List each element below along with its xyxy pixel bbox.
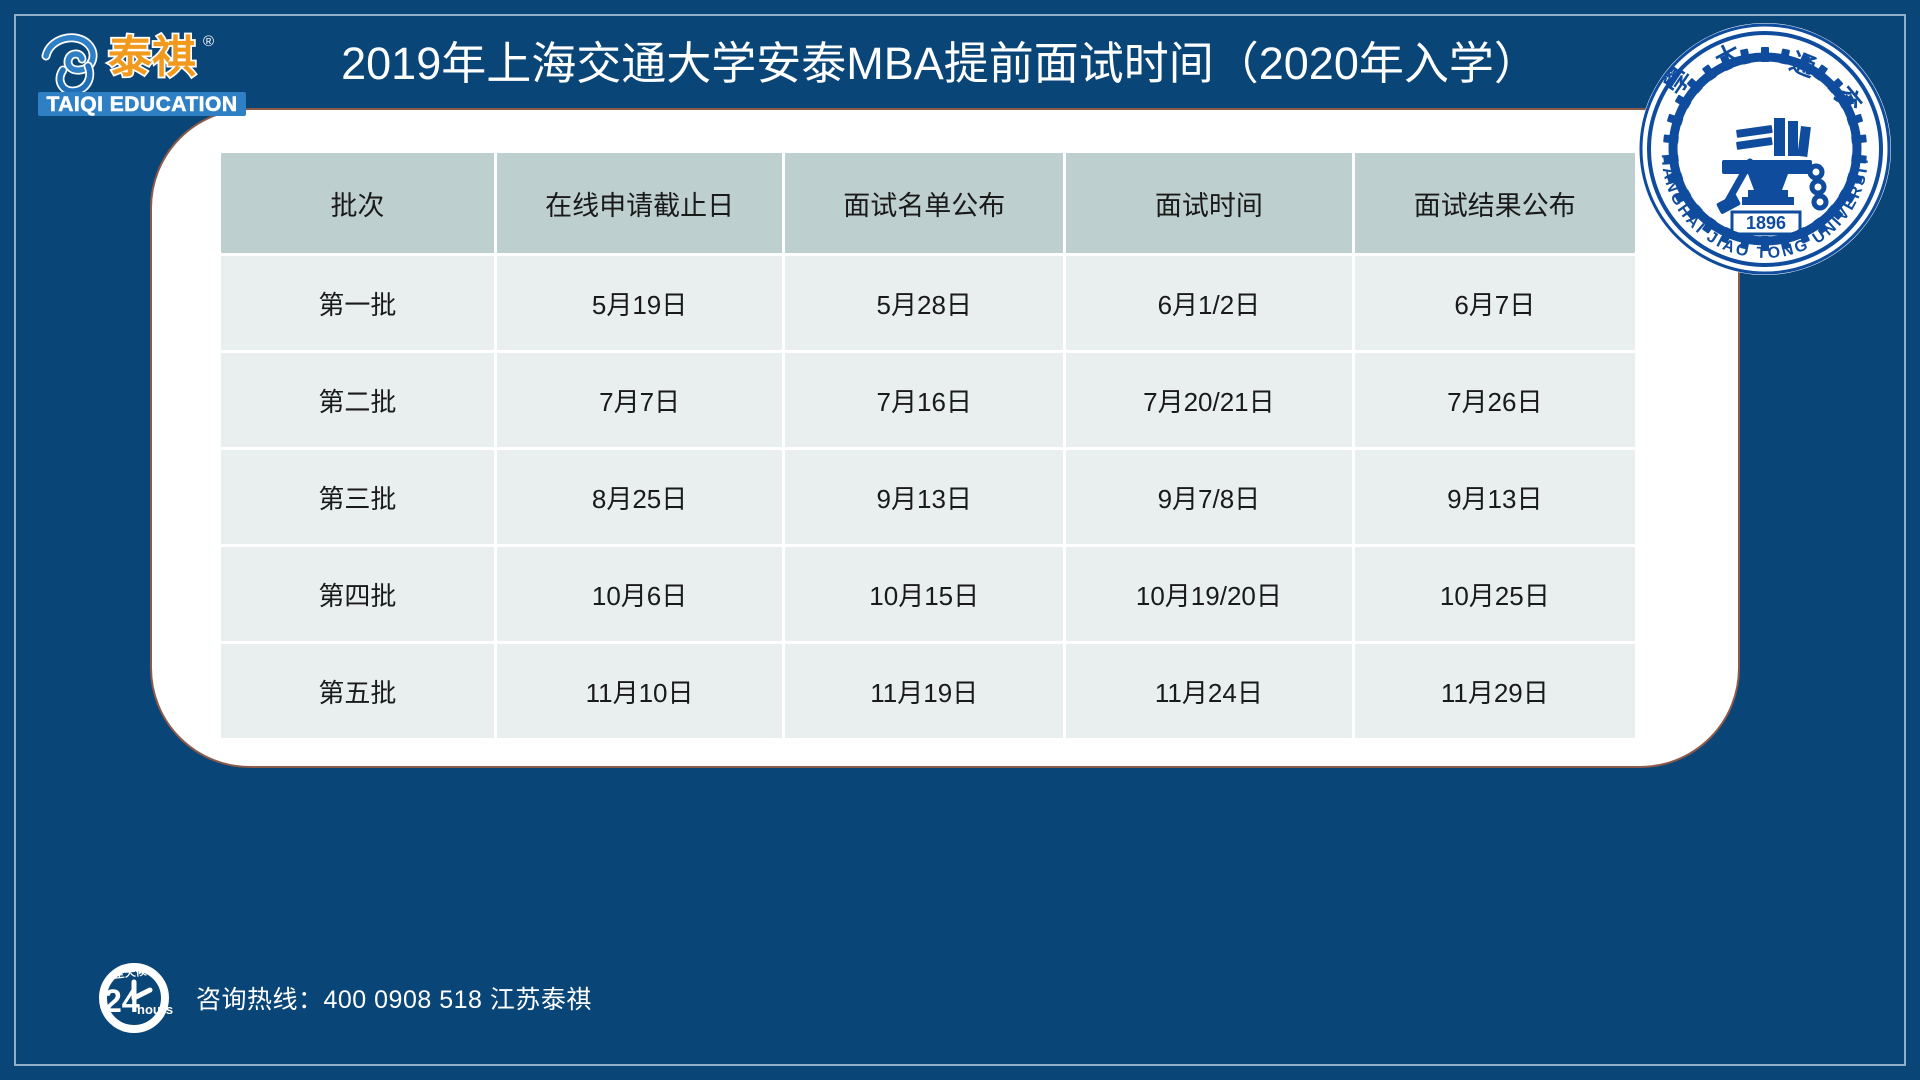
cell-shortlist: 5月28日 <box>785 256 1063 350</box>
cell-result: 7月26日 <box>1355 353 1635 447</box>
column-header-batch: 批次 <box>221 153 494 253</box>
cell-interview: 11月24日 <box>1066 644 1351 738</box>
svg-text:1896: 1896 <box>1746 213 1786 233</box>
column-header-application-deadline: 在线申请截止日 <box>497 153 782 253</box>
cell-shortlist: 9月13日 <box>785 450 1063 544</box>
cell-result: 11月29日 <box>1355 644 1635 738</box>
table-header-row: 批次 在线申请截止日 面试名单公布 面试时间 面试结果公布 <box>221 153 1635 253</box>
cell-interview: 10月19/20日 <box>1066 547 1351 641</box>
cell-shortlist: 7月16日 <box>785 353 1063 447</box>
24-hours-clock-icon: 全天候 24 hours <box>90 962 178 1034</box>
cell-batch: 第二批 <box>221 353 494 447</box>
cell-batch: 第五批 <box>221 644 494 738</box>
cell-batch: 第一批 <box>221 256 494 350</box>
svg-text:TAIQI EDUCATION: TAIQI EDUCATION <box>46 93 237 116</box>
cell-deadline: 7月7日 <box>497 353 782 447</box>
cell-result: 9月13日 <box>1355 450 1635 544</box>
svg-text:全天候: 全天候 <box>112 964 148 982</box>
hotline-text: 咨询热线：400 0908 518 江苏泰祺 <box>196 980 592 1016</box>
cell-interview: 9月7/8日 <box>1066 450 1351 544</box>
slide-footer: 全天候 24 hours 咨询热线：400 0908 518 江苏泰祺 <box>0 920 1920 1080</box>
cell-batch: 第四批 <box>221 547 494 641</box>
svg-text:hours: hours <box>137 1002 173 1017</box>
slide-root: 泰祺 ® TAIQI EDUCATION 2019年上海交通大学安泰MBA提前面… <box>0 0 1920 1080</box>
cell-interview: 7月20/21日 <box>1066 353 1351 447</box>
svg-text:®: ® <box>203 33 214 50</box>
cell-batch: 第三批 <box>221 450 494 544</box>
page-title: 2019年上海交通大学安泰MBA提前面试时间（2020年入学） <box>300 34 1580 94</box>
table-row: 第一批 5月19日 5月28日 6月1/2日 6月7日 <box>221 256 1635 350</box>
interview-schedule-table-wrapper: 批次 在线申请截止日 面试名单公布 面试时间 面试结果公布 第一批 5月19日 … <box>218 150 1638 730</box>
shanghai-jiao-tong-university-seal-icon: 1896 學 大 通 交 SHANGHAI JIAO TONG UNIVERSI… <box>1638 22 1892 276</box>
cell-interview: 6月1/2日 <box>1066 256 1351 350</box>
cell-result: 10月25日 <box>1355 547 1635 641</box>
cell-deadline: 10月6日 <box>497 547 782 641</box>
slide-header: 泰祺 ® TAIQI EDUCATION 2019年上海交通大学安泰MBA提前面… <box>0 0 1920 138</box>
cell-deadline: 5月19日 <box>497 256 782 350</box>
taiqi-logo-icon: 泰祺 ® TAIQI EDUCATION <box>36 22 251 118</box>
cell-result: 6月7日 <box>1355 256 1635 350</box>
table-row: 第四批 10月6日 10月15日 10月19/20日 10月25日 <box>221 547 1635 641</box>
cell-deadline: 8月25日 <box>497 450 782 544</box>
table-row: 第五批 11月10日 11月19日 11月24日 11月29日 <box>221 644 1635 738</box>
table-row: 第三批 8月25日 9月13日 9月7/8日 9月13日 <box>221 450 1635 544</box>
cell-shortlist: 11月19日 <box>785 644 1063 738</box>
column-header-interview-date: 面试时间 <box>1066 153 1351 253</box>
cell-deadline: 11月10日 <box>497 644 782 738</box>
table-row: 第二批 7月7日 7月16日 7月20/21日 7月26日 <box>221 353 1635 447</box>
svg-text:泰祺: 泰祺 <box>108 32 196 83</box>
column-header-shortlist-announcement: 面试名单公布 <box>785 153 1063 253</box>
interview-schedule-table: 批次 在线申请截止日 面试名单公布 面试时间 面试结果公布 第一批 5月19日 … <box>218 150 1638 741</box>
cell-shortlist: 10月15日 <box>785 547 1063 641</box>
column-header-result-announcement: 面试结果公布 <box>1355 153 1635 253</box>
